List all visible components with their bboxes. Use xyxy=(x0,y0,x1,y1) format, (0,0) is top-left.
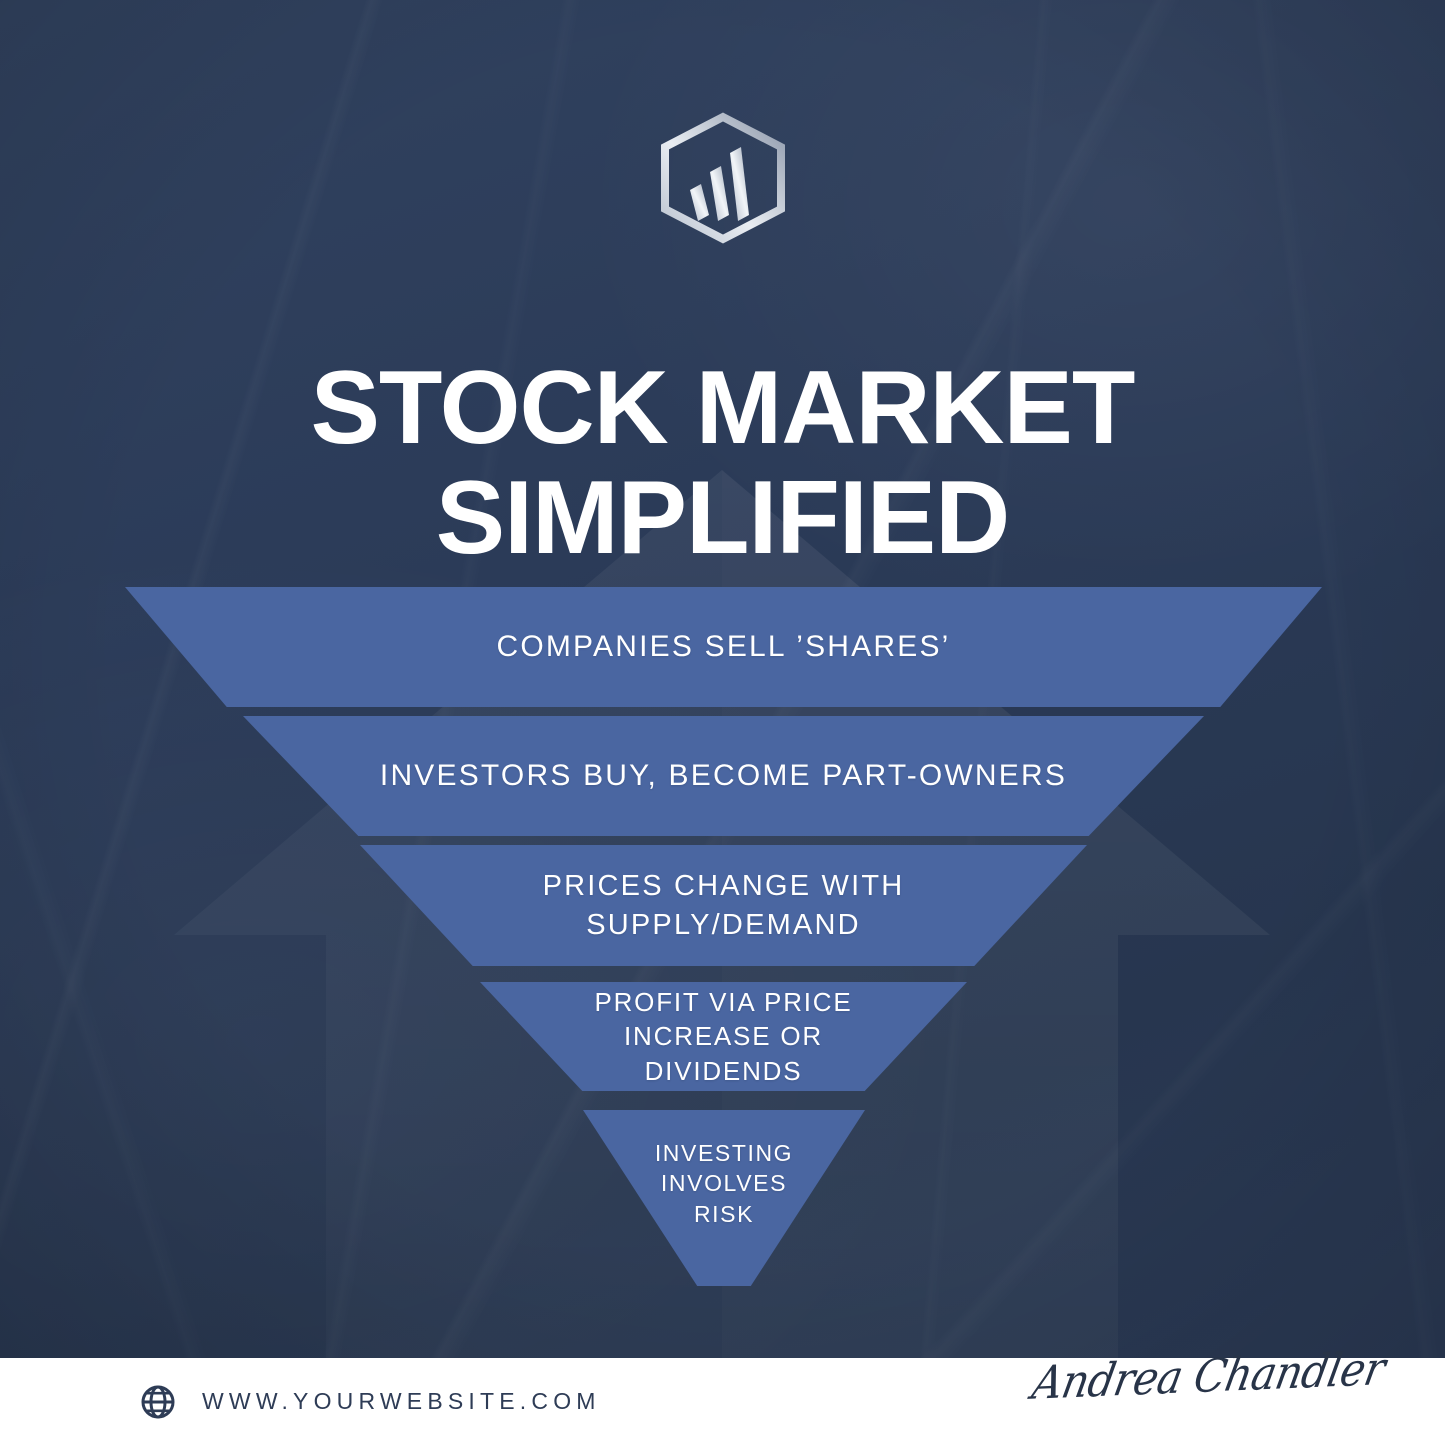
signature-text: Andrea Chandler xyxy=(1021,1348,1332,1406)
globe-icon xyxy=(140,1384,176,1420)
website-url[interactable]: WWW.YOURWEBSITE.COM xyxy=(202,1388,601,1415)
funnel-step-1-label: COMPANIES SELL ’SHARES’ xyxy=(125,587,1322,707)
signature: Andrea Chandler xyxy=(1025,1363,1325,1437)
footer-website-group[interactable]: WWW.YOURWEBSITE.COM xyxy=(140,1384,601,1420)
funnel-step-4-label: PROFIT VIA PRICE INCREASE OR DIVIDENDS xyxy=(480,982,967,1091)
funnel-step-1[interactable]: COMPANIES SELL ’SHARES’ xyxy=(125,587,1322,707)
funnel-diagram: COMPANIES SELL ’SHARES’ INVESTORS BUY, B… xyxy=(0,0,1445,1445)
infographic-poster: STOCK MARKET SIMPLIFIED COMPANIES SELL ’… xyxy=(0,0,1445,1445)
funnel-step-4[interactable]: PROFIT VIA PRICE INCREASE OR DIVIDENDS xyxy=(480,982,967,1091)
funnel-step-3[interactable]: PRICES CHANGE WITH SUPPLY/DEMAND xyxy=(360,845,1087,966)
funnel-step-5-label: INVESTING INVOLVES RISK xyxy=(583,1110,865,1286)
footer-bar: WWW.YOURWEBSITE.COM Andrea Chandler xyxy=(0,1358,1445,1445)
funnel-step-5[interactable]: INVESTING INVOLVES RISK xyxy=(583,1110,865,1286)
funnel-step-2[interactable]: INVESTORS BUY, BECOME PART-OWNERS xyxy=(243,716,1204,836)
funnel-step-3-label: PRICES CHANGE WITH SUPPLY/DEMAND xyxy=(360,845,1087,966)
funnel-step-2-label: INVESTORS BUY, BECOME PART-OWNERS xyxy=(243,716,1204,836)
